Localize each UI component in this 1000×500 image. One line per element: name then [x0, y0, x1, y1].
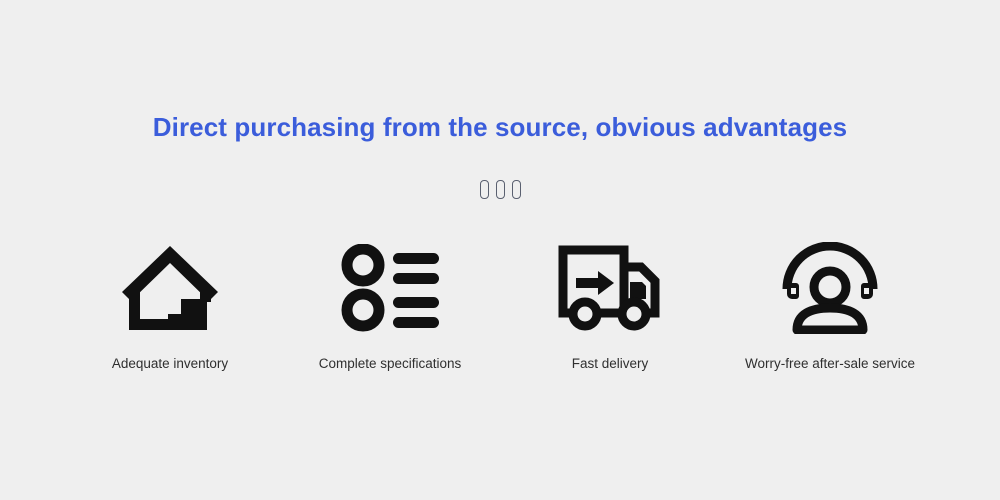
- feature-label: Worry-free after-sale service: [745, 356, 915, 372]
- feature-item-delivery: Fast delivery: [500, 240, 720, 372]
- divider-pill-icon: [480, 180, 489, 199]
- promo-banner: Direct purchasing from the source, obvio…: [0, 0, 1000, 500]
- feature-item-service: Worry-free after-sale service: [720, 240, 940, 372]
- headset-support-agent-icon: [775, 240, 885, 336]
- warehouse-inventory-icon: [115, 240, 225, 336]
- delivery-truck-icon: [555, 240, 665, 336]
- specification-list-icon: [335, 240, 445, 336]
- divider: [0, 180, 1000, 199]
- feature-label: Complete specifications: [319, 356, 462, 372]
- feature-label: Fast delivery: [572, 356, 649, 372]
- feature-item-specifications: Complete specifications: [280, 240, 500, 372]
- divider-pill-icon: [512, 180, 521, 199]
- page-title: Direct purchasing from the source, obvio…: [0, 112, 1000, 143]
- divider-pill-icon: [496, 180, 505, 199]
- feature-list: Adequate inventory Complete specificatio…: [60, 240, 940, 372]
- feature-label: Adequate inventory: [112, 356, 228, 372]
- feature-item-inventory: Adequate inventory: [60, 240, 280, 372]
